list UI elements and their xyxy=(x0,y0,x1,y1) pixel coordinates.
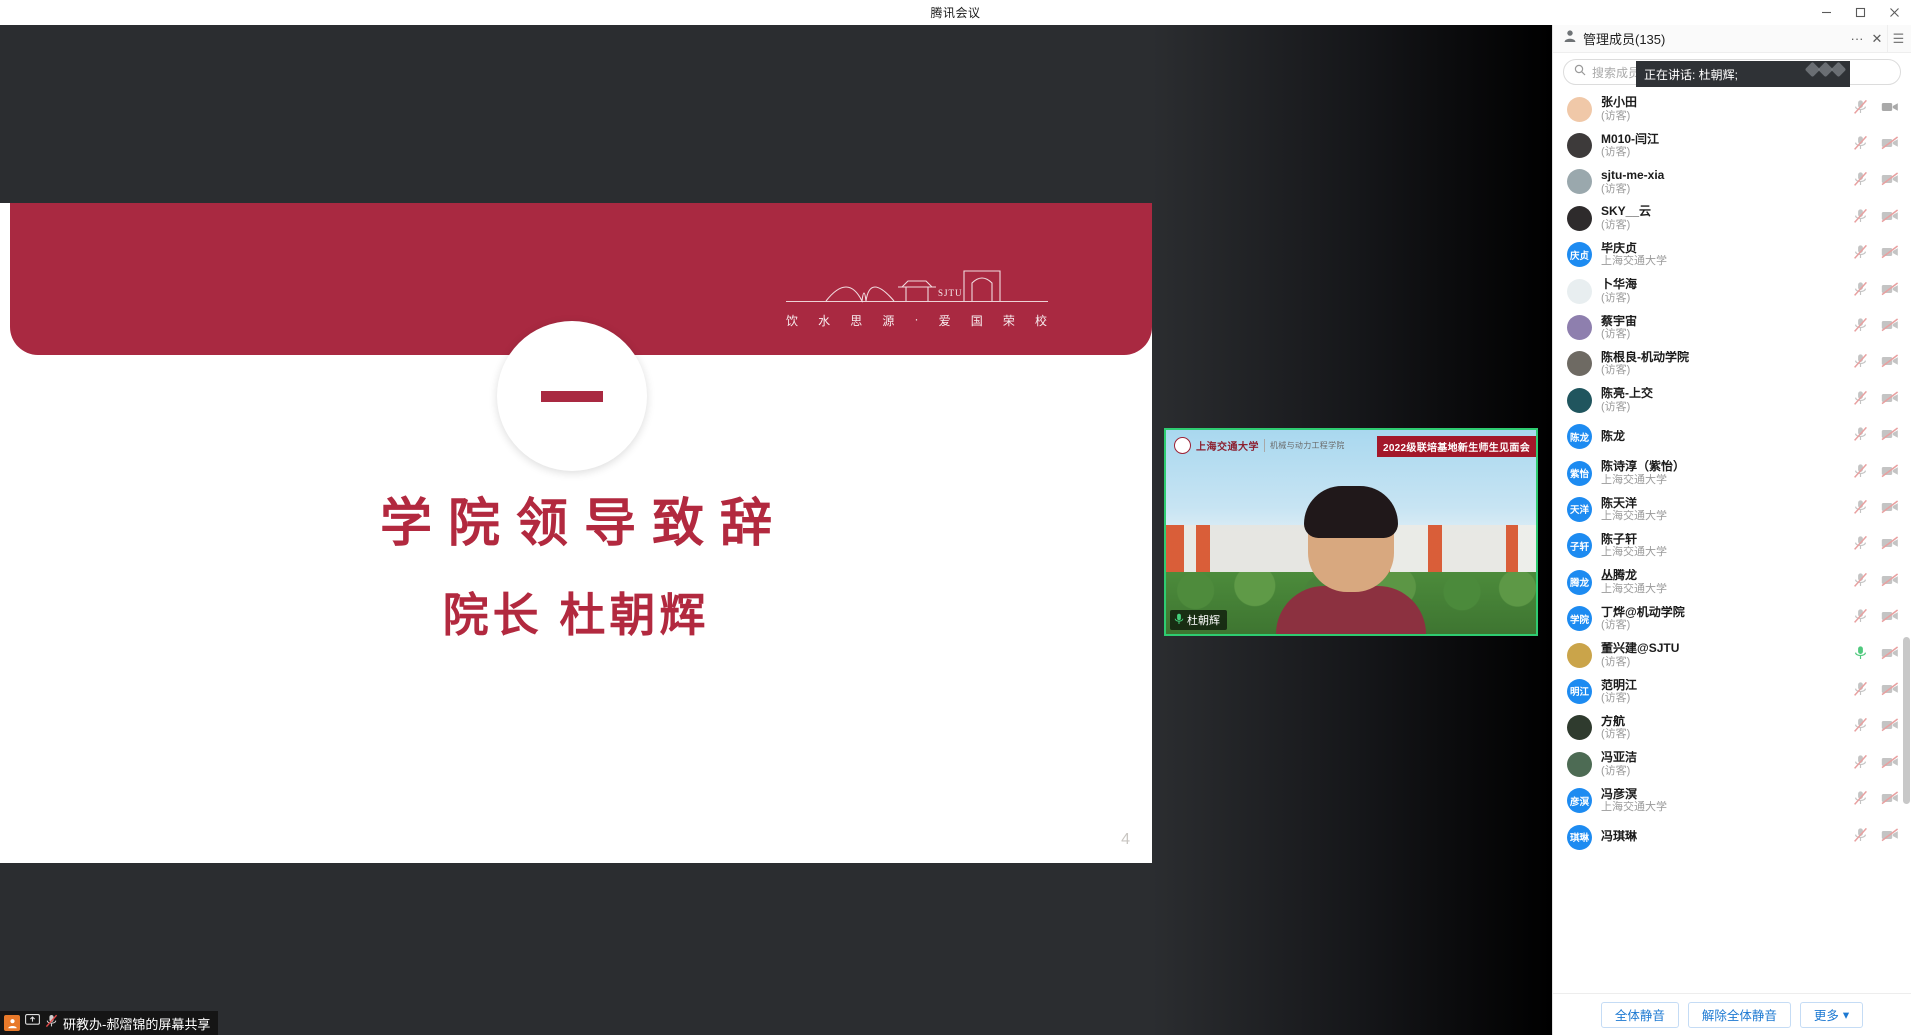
camera-off-icon[interactable] xyxy=(1881,427,1899,446)
avatar: 琪琳 xyxy=(1567,825,1592,850)
participant-name: 陈亮-上交 xyxy=(1601,387,1844,400)
participant-org: (访客) xyxy=(1601,765,1844,777)
participant-row[interactable]: 冯亚洁(访客) xyxy=(1553,746,1911,782)
participant-name: SKY__云 xyxy=(1601,205,1844,218)
mic-muted-icon[interactable] xyxy=(1853,426,1868,447)
camera-off-icon[interactable] xyxy=(1881,646,1899,665)
avatar xyxy=(1567,351,1592,376)
participant-name: 冯彦溟 xyxy=(1601,788,1844,801)
participant-org: (访客) xyxy=(1601,146,1844,158)
participant-controls xyxy=(1853,99,1899,120)
motto-char-3: 源 xyxy=(882,312,895,329)
avatar xyxy=(1567,169,1592,194)
participant-controls xyxy=(1853,281,1899,302)
participant-org: (访客) xyxy=(1601,219,1844,231)
logo-divider xyxy=(1264,439,1265,452)
participant-info: 丛腾龙上海交通大学 xyxy=(1601,569,1844,595)
participant-row[interactable]: SKY__云(访客) xyxy=(1553,200,1911,236)
participant-name: 陈子轩 xyxy=(1601,533,1844,546)
participant-info: 陈天洋上海交通大学 xyxy=(1601,497,1844,523)
participant-info: SKY__云(访客) xyxy=(1601,205,1844,231)
participant-controls xyxy=(1853,754,1899,775)
camera-off-icon[interactable] xyxy=(1881,500,1899,519)
participant-controls xyxy=(1853,608,1899,629)
avatar xyxy=(1567,133,1592,158)
participant-org: (访客) xyxy=(1601,110,1844,122)
motto-char-8: 校 xyxy=(1035,312,1048,329)
camera-off-icon[interactable] xyxy=(1881,573,1899,592)
speaking-toast: 正在讲话: 杜朝辉; xyxy=(1636,61,1850,87)
motto-char-7: 荣 xyxy=(1003,312,1016,329)
participants-panel: 管理成员(135) ··· ✕ ☰ 搜索成员 正在讲话: 杜朝辉; 张小田(访客… xyxy=(1552,25,1911,1035)
panel-menu-grip[interactable]: ☰ xyxy=(1887,25,1909,53)
avatar: 陈龙 xyxy=(1567,424,1592,449)
screen-share-status-bar: 研教办-郝熠锦的屏幕共享 xyxy=(0,1011,218,1035)
motto-char-5: 爱 xyxy=(939,312,952,329)
camera-off-icon[interactable] xyxy=(1881,282,1899,301)
participant-row[interactable]: 张小田(访客) xyxy=(1553,91,1911,127)
camera-off-icon[interactable] xyxy=(1881,536,1899,555)
mic-muted-icon[interactable] xyxy=(1853,463,1868,484)
avatar xyxy=(1567,315,1592,340)
speaker-name-label: 杜朝辉 xyxy=(1187,612,1220,628)
participant-controls xyxy=(1853,681,1899,702)
camera-off-icon[interactable] xyxy=(1881,682,1899,701)
mute-all-button[interactable]: 全体静音 xyxy=(1601,1002,1679,1028)
participant-org: 上海交通大学 xyxy=(1601,255,1844,267)
participant-row[interactable]: 方航(访客) xyxy=(1553,710,1911,746)
motto-text: 饮 水 思 源 · 爱 国 荣 校 xyxy=(786,312,1048,329)
participant-org: (访客) xyxy=(1601,401,1844,413)
slide-circle-badge xyxy=(497,321,647,471)
participants-list[interactable]: 张小田(访客) M010-闫江(访客) sjtu-me-xia(访客) SKY_… xyxy=(1553,91,1911,993)
participant-info: 冯彦溟上海交通大学 xyxy=(1601,788,1844,814)
participant-info: 陈亮-上交(访客) xyxy=(1601,387,1844,413)
participant-info: 张小田(访客) xyxy=(1601,96,1844,122)
more-options-button[interactable]: 更多 ▾ xyxy=(1800,1002,1863,1028)
camera-off-icon[interactable] xyxy=(1881,828,1899,847)
participant-controls xyxy=(1853,499,1899,520)
more-options-label: 更多 xyxy=(1814,1005,1839,1024)
camera-off-icon[interactable] xyxy=(1881,464,1899,483)
participant-row[interactable]: 紫怡陈诗淳（紫怡）上海交通大学 xyxy=(1553,455,1911,491)
motto-char-0: 饮 xyxy=(786,312,799,329)
participant-name: 陈根良-机动学院 xyxy=(1601,351,1844,364)
participant-controls xyxy=(1853,171,1899,192)
search-placeholder: 搜索成员 xyxy=(1592,64,1640,81)
camera-off-icon[interactable] xyxy=(1881,172,1899,191)
participant-org: (访客) xyxy=(1601,292,1844,304)
participant-row[interactable]: 卜华海(访客) xyxy=(1553,273,1911,309)
participant-name: 冯琪琳 xyxy=(1601,830,1844,843)
share-status-text: 研教办-郝熠锦的屏幕共享 xyxy=(63,1014,210,1033)
participant-info: 毕庆贞上海交通大学 xyxy=(1601,242,1844,268)
camera-off-icon[interactable] xyxy=(1881,718,1899,737)
search-row: 搜索成员 正在讲话: 杜朝辉; xyxy=(1553,53,1911,91)
mic-muted-icon[interactable] xyxy=(1853,499,1868,520)
participant-info: 董兴建@SJTU(访客) xyxy=(1601,642,1844,668)
active-speaker-video-tile[interactable]: 上海交通大学 机械与动力工程学院 2022级联培基地新生师生见面会 杜朝辉 xyxy=(1164,428,1538,636)
motto-char-6: 国 xyxy=(971,312,984,329)
participant-org: (访客) xyxy=(1601,619,1844,631)
mic-muted-icon[interactable] xyxy=(1853,681,1868,702)
participants-scrollbar[interactable] xyxy=(1903,91,1910,993)
participant-controls xyxy=(1853,135,1899,156)
participant-info: 丁烨@机动学院(访客) xyxy=(1601,606,1844,632)
participant-name: 董兴建@SJTU xyxy=(1601,642,1844,655)
motto-char-2: 思 xyxy=(850,312,863,329)
participant-org: 上海交通大学 xyxy=(1601,510,1844,522)
participant-info: 蔡宇宙(访客) xyxy=(1601,315,1844,341)
participant-controls xyxy=(1853,317,1899,338)
mic-on-icon[interactable] xyxy=(1853,645,1868,666)
university-name-label: 上海交通大学 xyxy=(1196,438,1259,453)
participant-name: 丁烨@机动学院 xyxy=(1601,606,1844,619)
university-logo-overlay: 上海交通大学 机械与动力工程学院 xyxy=(1174,437,1345,454)
participant-info: 冯亚洁(访客) xyxy=(1601,751,1844,777)
search-icon xyxy=(1574,63,1586,81)
avatar xyxy=(1567,388,1592,413)
sharer-mic-muted-icon xyxy=(45,1014,58,1033)
participant-row[interactable]: 学院丁烨@机动学院(访客) xyxy=(1553,600,1911,636)
participant-org: (访客) xyxy=(1601,692,1844,704)
mic-muted-icon[interactable] xyxy=(1853,390,1868,411)
mic-muted-icon[interactable] xyxy=(1853,827,1868,848)
participant-row[interactable]: 明江范明江(访客) xyxy=(1553,673,1911,709)
participant-row[interactable]: M010-闫江(访客) xyxy=(1553,127,1911,163)
participant-name: sjtu-me-xia xyxy=(1601,169,1844,182)
window-title: 腾讯会议 xyxy=(930,4,980,21)
participant-org: 上海交通大学 xyxy=(1601,583,1844,595)
participant-controls xyxy=(1853,717,1899,738)
circle-dash-mark xyxy=(541,391,603,402)
participant-info: 陈诗淳（紫怡）上海交通大学 xyxy=(1601,460,1844,486)
participant-name: 卜华海 xyxy=(1601,278,1844,291)
participant-row[interactable]: 庆贞毕庆贞上海交通大学 xyxy=(1553,237,1911,273)
sjtu-seal-icon xyxy=(1174,437,1191,454)
video-person-silhouette xyxy=(1276,484,1426,634)
minimize-button[interactable] xyxy=(1809,0,1843,25)
camera-icon[interactable] xyxy=(1881,100,1899,119)
participant-controls xyxy=(1853,353,1899,374)
window-titlebar: 腾讯会议 xyxy=(0,0,1911,25)
participant-org: (访客) xyxy=(1601,656,1844,668)
maximize-button[interactable] xyxy=(1843,0,1877,25)
slide-page-number: 4 xyxy=(1121,831,1130,849)
mic-muted-icon[interactable] xyxy=(1853,135,1868,156)
participant-name: 陈天洋 xyxy=(1601,497,1844,510)
participant-row[interactable]: 腾龙丛腾龙上海交通大学 xyxy=(1553,564,1911,600)
mic-muted-icon[interactable] xyxy=(1853,317,1868,338)
unmute-all-button[interactable]: 解除全体静音 xyxy=(1688,1002,1791,1028)
participant-controls xyxy=(1853,426,1899,447)
camera-off-icon[interactable] xyxy=(1881,245,1899,264)
scrollbar-thumb[interactable] xyxy=(1903,637,1910,804)
participant-name: M010-闫江 xyxy=(1601,133,1844,146)
mic-muted-icon[interactable] xyxy=(1853,171,1868,192)
participant-row[interactable]: 蔡宇宙(访客) xyxy=(1553,309,1911,345)
participant-info: 范明江(访客) xyxy=(1601,679,1844,705)
campus-skyline-icon xyxy=(786,263,1048,303)
camera-off-icon[interactable] xyxy=(1881,136,1899,155)
mic-muted-icon[interactable] xyxy=(1853,754,1868,775)
avatar: 天洋 xyxy=(1567,497,1592,522)
motto-underline xyxy=(786,301,1048,302)
participant-info: 陈龙 xyxy=(1601,430,1844,443)
participant-row[interactable]: 陈亮-上交(访客) xyxy=(1553,382,1911,418)
participant-name: 丛腾龙 xyxy=(1601,569,1844,582)
participant-info: 方航(访客) xyxy=(1601,715,1844,741)
camera-off-icon[interactable] xyxy=(1881,354,1899,373)
avatar: 紫怡 xyxy=(1567,461,1592,486)
participant-org: (访客) xyxy=(1601,364,1844,376)
person-torso xyxy=(1276,586,1426,634)
avatar: 学院 xyxy=(1567,606,1592,631)
avatar xyxy=(1567,752,1592,777)
participant-name: 蔡宇宙 xyxy=(1601,315,1844,328)
avatar xyxy=(1567,715,1592,740)
participant-info: 冯琪琳 xyxy=(1601,830,1844,843)
shared-screen-area[interactable]: SJTU 饮 水 思 源 · 爱 国 荣 校 xyxy=(0,25,1152,1035)
participant-org: 上海交通大学 xyxy=(1601,474,1844,486)
avatar: 子轩 xyxy=(1567,533,1592,558)
participant-name: 冯亚洁 xyxy=(1601,751,1844,764)
participant-org: 上海交通大学 xyxy=(1601,801,1844,813)
participant-controls xyxy=(1853,645,1899,666)
person-hair xyxy=(1304,486,1398,538)
participant-info: sjtu-me-xia(访客) xyxy=(1601,169,1844,195)
sharer-user-icon xyxy=(4,1015,20,1031)
participant-controls xyxy=(1853,827,1899,848)
mic-muted-icon[interactable] xyxy=(1853,608,1868,629)
participant-row[interactable]: sjtu-me-xia(访客) xyxy=(1553,164,1911,200)
share-screen-icon xyxy=(25,1014,40,1032)
slide-title: 学院领导致辞 xyxy=(0,481,1152,556)
mic-muted-icon[interactable] xyxy=(1853,208,1868,229)
participant-name: 陈龙 xyxy=(1601,430,1844,443)
participants-icon xyxy=(1563,29,1577,48)
avatar: 明江 xyxy=(1567,679,1592,704)
panel-header: 管理成员(135) ··· ✕ ☰ xyxy=(1553,25,1911,53)
avatar xyxy=(1567,279,1592,304)
participant-org: 上海交通大学 xyxy=(1601,546,1844,558)
avatar: 庆贞 xyxy=(1567,242,1592,267)
camera-off-icon[interactable] xyxy=(1881,318,1899,337)
mic-muted-icon[interactable] xyxy=(1853,281,1868,302)
speaking-toast-text: 正在讲话: 杜朝辉; xyxy=(1644,66,1738,83)
motto-char-1: 水 xyxy=(818,312,831,329)
participant-name: 张小田 xyxy=(1601,96,1844,109)
meeting-window: 腾讯会议 SJTU xyxy=(0,0,1911,1035)
panel-more-button[interactable]: ··· xyxy=(1847,27,1867,51)
mic-muted-icon[interactable] xyxy=(1853,244,1868,265)
department-name-label: 机械与动力工程学院 xyxy=(1270,440,1345,451)
participant-name: 方航 xyxy=(1601,715,1844,728)
participant-name: 毕庆贞 xyxy=(1601,242,1844,255)
camera-off-icon[interactable] xyxy=(1881,391,1899,410)
avatar xyxy=(1567,97,1592,122)
participant-info: 卜华海(访客) xyxy=(1601,278,1844,304)
close-button[interactable] xyxy=(1877,0,1911,25)
participant-row[interactable]: 董兴建@SJTU(访客) xyxy=(1553,637,1911,673)
mic-muted-icon[interactable] xyxy=(1853,790,1868,811)
avatar xyxy=(1567,643,1592,668)
presentation-slide: SJTU 饮 水 思 源 · 爱 国 荣 校 xyxy=(0,203,1152,863)
camera-off-icon[interactable] xyxy=(1881,209,1899,228)
participant-org: (访客) xyxy=(1601,728,1844,740)
mic-muted-icon[interactable] xyxy=(1853,572,1868,593)
participant-row[interactable]: 琪琳冯琪琳 xyxy=(1553,819,1911,855)
participant-name: 范明江 xyxy=(1601,679,1844,692)
participant-row[interactable]: 天洋陈天洋上海交通大学 xyxy=(1553,491,1911,527)
motto-char-4: · xyxy=(915,312,920,329)
camera-off-icon[interactable] xyxy=(1881,791,1899,810)
panel-title: 管理成员(135) xyxy=(1583,29,1847,48)
mic-muted-icon[interactable] xyxy=(1853,99,1868,120)
participant-row[interactable]: 子轩陈子轩上海交通大学 xyxy=(1553,528,1911,564)
avatar: 彦溟 xyxy=(1567,788,1592,813)
participant-org: (访客) xyxy=(1601,328,1844,340)
participant-info: 陈根良-机动学院(访客) xyxy=(1601,351,1844,377)
sjtu-abbr-label: SJTU xyxy=(938,288,963,298)
speaker-nametag: 杜朝辉 xyxy=(1170,610,1227,630)
participant-controls xyxy=(1853,790,1899,811)
avatar xyxy=(1567,206,1592,231)
participant-controls xyxy=(1853,390,1899,411)
slide-subtitle: 院长 杜朝辉 xyxy=(0,579,1152,645)
mic-muted-icon[interactable] xyxy=(1853,353,1868,374)
participant-controls xyxy=(1853,535,1899,556)
speaker-mic-active-icon xyxy=(1174,613,1184,628)
audio-wave-icon xyxy=(1807,64,1844,75)
panel-footer: 全体静音 解除全体静音 更多 ▾ xyxy=(1553,993,1911,1035)
participant-controls xyxy=(1853,244,1899,265)
participant-controls xyxy=(1853,208,1899,229)
camera-off-icon[interactable] xyxy=(1881,609,1899,628)
event-banner-label: 2022级联培基地新生师生见面会 xyxy=(1377,436,1536,457)
mic-muted-icon[interactable] xyxy=(1853,717,1868,738)
participant-row[interactable]: 陈根良-机动学院(访客) xyxy=(1553,346,1911,382)
avatar: 腾龙 xyxy=(1567,570,1592,595)
panel-close-button[interactable]: ✕ xyxy=(1867,27,1887,51)
window-controls xyxy=(1809,0,1911,25)
participant-info: M010-闫江(访客) xyxy=(1601,133,1844,159)
sjtu-motto-graphic: SJTU 饮 水 思 源 · 爱 国 荣 校 xyxy=(786,263,1048,329)
participant-info: 陈子轩上海交通大学 xyxy=(1601,533,1844,559)
participant-controls xyxy=(1853,463,1899,484)
participant-org: (访客) xyxy=(1601,183,1844,195)
mic-muted-icon[interactable] xyxy=(1853,535,1868,556)
participant-row[interactable]: 陈龙陈龙 xyxy=(1553,419,1911,455)
camera-off-icon[interactable] xyxy=(1881,755,1899,774)
participant-controls xyxy=(1853,572,1899,593)
chevron-down-icon: ▾ xyxy=(1843,1007,1849,1022)
participant-name: 陈诗淳（紫怡） xyxy=(1601,460,1844,473)
participant-row[interactable]: 彦溟冯彦溟上海交通大学 xyxy=(1553,782,1911,818)
